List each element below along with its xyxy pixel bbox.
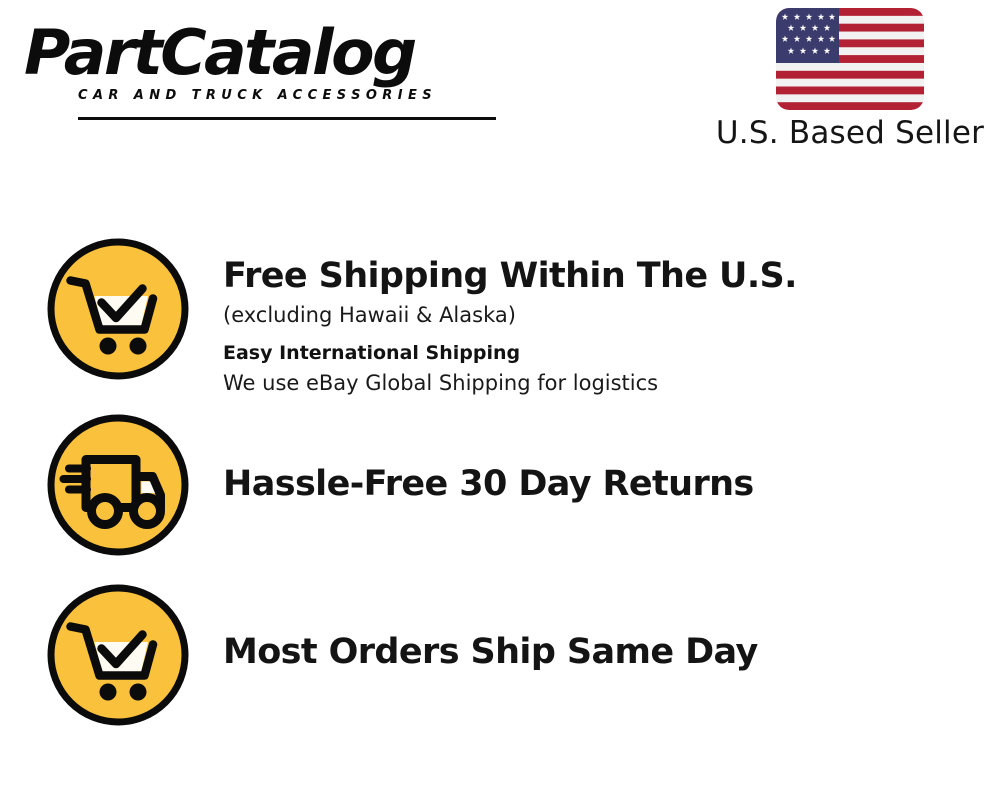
brand-wordmark: PartCatalog	[24, 20, 503, 86]
us-flag-icon	[776, 8, 924, 110]
brand-logo: PartCatalog CAR AND TRUCK ACCESSORIES	[24, 20, 494, 120]
feature-title: Most Orders Ship Same Day	[223, 628, 983, 676]
feature-row: Hassle-Free 30 Day Returns	[0, 412, 1000, 582]
us-based-seller-label: U.S. Based Seller	[714, 114, 986, 152]
feature-row: Most Orders Ship Same Day	[0, 582, 1000, 752]
brand-underline-rule	[78, 117, 496, 120]
feature-text-block: Most Orders Ship Same Day	[223, 628, 983, 676]
delivery-truck-svg	[45, 412, 191, 558]
shopping-cart-check-icon	[45, 236, 191, 382]
feature-list: Free Shipping Within The U.S. (excluding…	[0, 236, 1000, 752]
banner-header: PartCatalog CAR AND TRUCK ACCESSORIES	[0, 0, 1000, 170]
shopping-cart-check-svg	[45, 236, 191, 382]
promo-banner: PartCatalog CAR AND TRUCK ACCESSORIES	[0, 0, 1000, 800]
shopping-cart-check-svg	[45, 582, 191, 728]
delivery-truck-icon	[45, 412, 191, 558]
brand-tagline: CAR AND TRUCK ACCESSORIES	[78, 88, 494, 103]
feature-secondary-title: Easy International Shipping	[223, 338, 983, 368]
feature-row: Free Shipping Within The U.S. (excluding…	[0, 236, 1000, 412]
feature-secondary-subtitle: We use eBay Global Shipping for logistic…	[223, 368, 983, 398]
feature-text-block: Free Shipping Within The U.S. (excluding…	[223, 252, 983, 398]
us-based-seller-badge: U.S. Based Seller	[714, 8, 986, 152]
shopping-cart-check-icon	[45, 582, 191, 728]
us-flag-svg	[776, 8, 924, 110]
feature-title: Free Shipping Within The U.S.	[223, 252, 983, 300]
feature-text-block: Hassle-Free 30 Day Returns	[223, 460, 983, 508]
feature-subtitle: (excluding Hawaii & Alaska)	[223, 300, 983, 330]
feature-title: Hassle-Free 30 Day Returns	[223, 460, 983, 508]
